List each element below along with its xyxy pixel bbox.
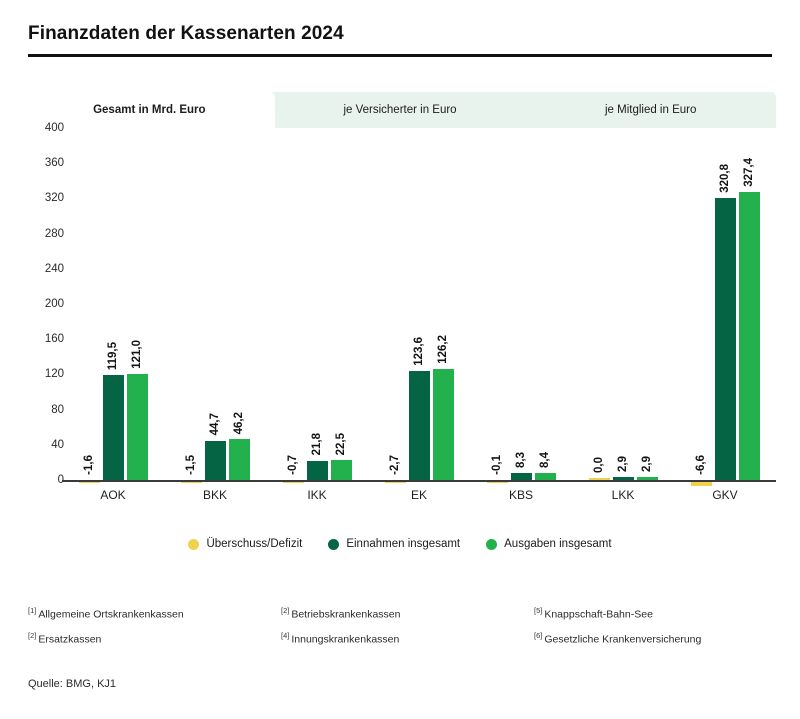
bar-column: -0,7 <box>283 128 304 480</box>
bar-column: 2,9 <box>637 128 658 480</box>
footnote-4: [4]Innungskrankenkassen <box>281 631 534 646</box>
bar-column: -0,1 <box>487 128 508 480</box>
bar-kbs-2[interactable] <box>535 473 556 480</box>
bar-gkv-2[interactable] <box>739 192 760 480</box>
bar-column: -1,5 <box>181 128 202 480</box>
title-block: Finanzdaten der Kassenarten 2024 <box>28 24 772 57</box>
bar-value-label: -0,7 <box>287 455 299 475</box>
footnote-marker: [6] <box>534 631 542 640</box>
bar-column: 126,2 <box>433 128 454 480</box>
title-divider <box>28 54 772 57</box>
legend-label: Ausgaben insgesamt <box>504 538 611 550</box>
bars: -0,721,822,5 <box>266 128 368 480</box>
legend-swatch-icon <box>486 539 497 550</box>
bars: -1,544,746,2 <box>164 128 266 480</box>
bar-ikk-2[interactable] <box>331 460 352 480</box>
bar-column: 8,4 <box>535 128 556 480</box>
legend-swatch-icon <box>188 539 199 550</box>
footnote-3: [2]Ersatzkassen <box>28 631 281 646</box>
bar-group-kbs: -0,18,38,4 <box>470 128 572 480</box>
zero-baseline <box>62 480 776 482</box>
x-tick-label-gkv: GKV <box>674 488 776 502</box>
x-tick-label-aok: AOK <box>62 488 164 502</box>
legend-item-2[interactable]: Ausgaben insgesamt <box>486 538 611 550</box>
bar-column: 123,6 <box>409 128 430 480</box>
bar-aok-1[interactable] <box>103 375 124 480</box>
bar-column: -2,7 <box>385 128 406 480</box>
footnote-marker: [2] <box>281 606 289 615</box>
bar-gkv-1[interactable] <box>715 198 736 480</box>
bar-group-lkk: 0,02,92,9 <box>572 128 674 480</box>
bar-kbs-1[interactable] <box>511 473 532 480</box>
bars: -1,6119,5121,0 <box>62 128 164 480</box>
y-axis-labels: 04080120160200240280320360400 <box>24 128 64 480</box>
bar-value-label: -1,6 <box>83 455 95 475</box>
bars: -6,6320,8327,4 <box>674 128 776 480</box>
bar-value-label: 123,6 <box>413 337 425 366</box>
bar-value-label: 8,3 <box>515 452 527 468</box>
bar-value-label: -0,1 <box>491 455 503 475</box>
bar-value-label: 121,0 <box>131 340 143 369</box>
footnote-text: Knappschaft-Bahn-See <box>544 609 653 621</box>
bar-group-aok: -1,6119,5121,0 <box>62 128 164 480</box>
footnote-1: [2]Betriebskrankenkassen <box>281 606 534 621</box>
bar-column: -1,6 <box>79 128 100 480</box>
bar-column: 22,5 <box>331 128 352 480</box>
legend-swatch-icon <box>328 539 339 550</box>
bar-value-label: 2,9 <box>641 456 653 472</box>
legend-label: Überschuss/Defizit <box>206 538 302 550</box>
chart-page: Finanzdaten der Kassenarten 2024 Gesamt … <box>0 0 800 719</box>
bar-value-label: 44,7 <box>209 413 221 435</box>
bar-column: 320,8 <box>715 128 736 480</box>
bar-value-label: 119,5 <box>107 342 119 370</box>
bars: -2,7123,6126,2 <box>368 128 470 480</box>
bar-value-label: 21,8 <box>311 433 323 455</box>
bar-column: 21,8 <box>307 128 328 480</box>
legend-label: Einnahmen insgesamt <box>346 538 460 550</box>
bar-group-ikk: -0,721,822,5 <box>266 128 368 480</box>
bar-value-label: 126,2 <box>437 335 449 364</box>
x-tick-label-bkk: BKK <box>164 488 266 502</box>
bar-value-label: 327,4 <box>743 158 755 187</box>
bars: 0,02,92,9 <box>572 128 674 480</box>
view-tabs[interactable]: Gesamt in Mrd. Euroje Versicherter in Eu… <box>24 92 776 128</box>
bars: -0,18,38,4 <box>470 128 572 480</box>
footnote-marker: [2] <box>28 631 36 640</box>
bar-column: -6,6 <box>691 128 712 480</box>
bar-bkk-1[interactable] <box>205 441 226 480</box>
bar-column: 44,7 <box>205 128 226 480</box>
bar-column: 119,5 <box>103 128 124 480</box>
bar-group-gkv: -6,6320,8327,4 <box>674 128 776 480</box>
bar-groups: -1,6119,5121,0-1,544,746,2-0,721,822,5-2… <box>62 128 776 480</box>
tab-1[interactable]: je Versicherter in Euro <box>275 92 526 128</box>
footnote-text: Gesetzliche Krankenversicherung <box>544 633 701 645</box>
bar-value-label: -1,5 <box>185 455 197 475</box>
bar-column: 121,0 <box>127 128 148 480</box>
footnote-text: Betriebskrankenkassen <box>291 609 400 621</box>
footnote-marker: [4] <box>281 631 289 640</box>
footnote-text: Innungskrankenkassen <box>291 633 399 645</box>
chart-plot-area: 04080120160200240280320360400 -1,6119,51… <box>24 128 776 526</box>
bar-value-label: 2,9 <box>617 456 629 472</box>
footnote-text: Ersatzkassen <box>38 633 101 645</box>
footnote-list: [1]Allgemeine Ortskrankenkassen[2]Betrie… <box>28 606 776 645</box>
bar-value-label: -2,7 <box>389 455 401 475</box>
x-tick-label-ek: EK <box>368 488 470 502</box>
chart-legend: Überschuss/DefizitEinnahmen insgesamtAus… <box>24 538 776 550</box>
x-tick-label-kbs: KBS <box>470 488 572 502</box>
legend-item-1[interactable]: Einnahmen insgesamt <box>328 538 460 550</box>
bar-group-bkk: -1,544,746,2 <box>164 128 266 480</box>
x-axis-labels: AOKBKKIKKEKKBSLKKGKV <box>62 488 776 502</box>
bar-aok-2[interactable] <box>127 374 148 480</box>
bar-group-ek: -2,7123,6126,2 <box>368 128 470 480</box>
source-note: Quelle: BMG, KJ1 <box>28 678 116 690</box>
legend-item-0[interactable]: Überschuss/Defizit <box>188 538 302 550</box>
footnote-0: [1]Allgemeine Ortskrankenkassen <box>28 606 281 621</box>
bar-column: 0,0 <box>589 128 610 480</box>
footnote-2: [5]Knappschaft-Bahn-See <box>534 606 776 621</box>
bar-value-label: 22,5 <box>335 433 347 455</box>
bar-ek-1[interactable] <box>409 371 430 480</box>
bar-bkk-2[interactable] <box>229 439 250 480</box>
bar-column: 8,3 <box>511 128 532 480</box>
bar-value-label: 8,4 <box>539 452 551 468</box>
bar-ek-2[interactable] <box>433 369 454 480</box>
tab-2[interactable]: je Mitglied in Euro <box>525 92 776 128</box>
bar-column: 2,9 <box>613 128 634 480</box>
footnote-marker: [1] <box>28 606 36 615</box>
bar-value-label: 0,0 <box>593 457 605 473</box>
bar-value-label: -6,6 <box>695 455 707 475</box>
footnote-5: [6]Gesetzliche Krankenversicherung <box>534 631 776 646</box>
page-title: Finanzdaten der Kassenarten 2024 <box>28 24 772 45</box>
bar-column: 327,4 <box>739 128 760 480</box>
bar-column: 46,2 <box>229 128 250 480</box>
bar-value-label: 320,8 <box>719 164 731 193</box>
bar-value-label: 46,2 <box>233 412 245 434</box>
footnote-marker: [5] <box>534 606 542 615</box>
x-tick-label-lkk: LKK <box>572 488 674 502</box>
x-tick-label-ikk: IKK <box>266 488 368 502</box>
footnote-text: Allgemeine Ortskrankenkassen <box>38 609 183 621</box>
bar-ikk-1[interactable] <box>307 461 328 480</box>
